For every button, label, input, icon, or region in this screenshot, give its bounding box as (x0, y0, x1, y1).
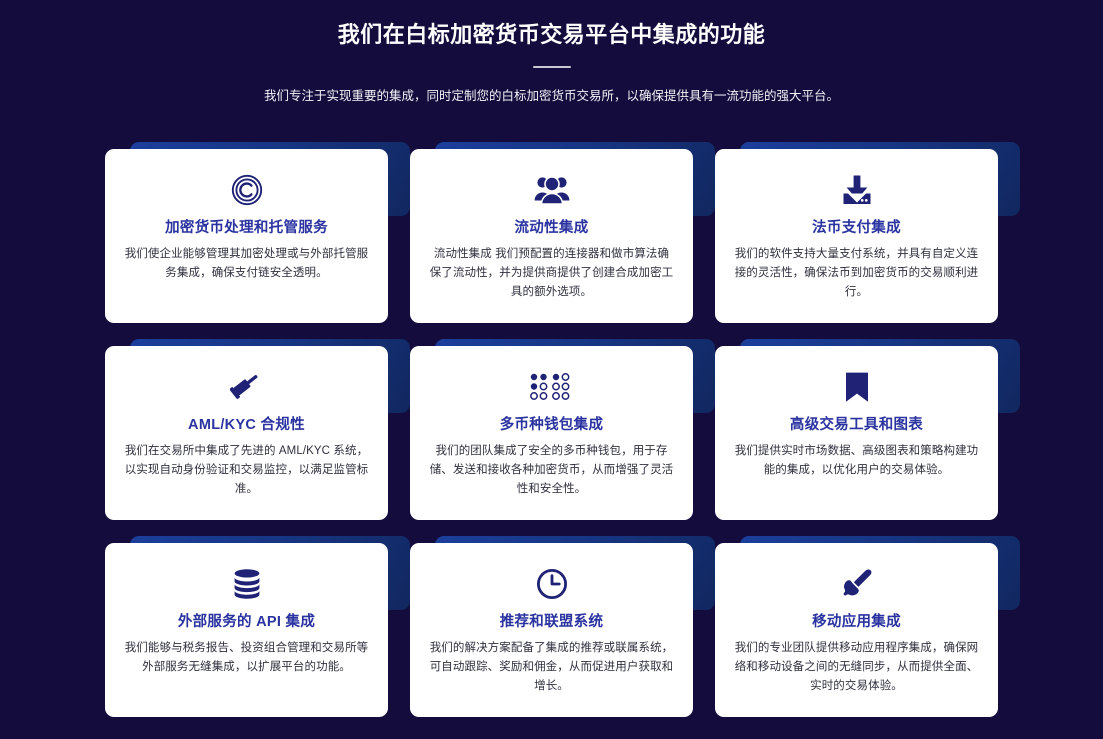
feature-card[interactable]: 移动应用集成我们的专业团队提供移动应用程序集成，确保网络和移动设备之间的无缝同步… (715, 531, 998, 706)
page-subtitle: 我们专注于实现重要的集成，同时定制您的白标加密货币交易所，以确保提供具有一流功能… (102, 86, 1002, 106)
card-body[interactable]: 移动应用集成我们的专业团队提供移动应用程序集成，确保网络和移动设备之间的无缝同步… (715, 543, 998, 717)
card-description: 我们的专业团队提供移动应用程序集成，确保网络和移动设备之间的无缝同步，从而提供全… (734, 639, 979, 696)
feature-card[interactable]: 法币支付集成我们的软件支持大量支付系统，并具有自定义连接的灵活性，确保法币到加密… (715, 137, 998, 312)
card-title: 推荐和联盟系统 (500, 612, 604, 632)
card-description: 流动性集成 我们预配置的连接器和做市算法确保了流动性，并为提供商提供了创建合成加… (429, 245, 674, 302)
paintbrush-icon (840, 566, 874, 602)
card-body[interactable]: 流动性集成流动性集成 我们预配置的连接器和做市算法确保了流动性，并为提供商提供了… (410, 149, 693, 323)
feature-card[interactable]: 推荐和联盟系统我们的解决方案配备了集成的推荐或联属系统，可自动跟踪、奖励和佣金，… (410, 531, 693, 706)
card-body[interactable]: 加密货币处理和托管服务我们使企业能够管理其加密处理或与外部托管服务集成，确保支付… (105, 149, 388, 323)
card-description: 我们的团队集成了安全的多币种钱包，用于存储、发送和接收各种加密货币，从而增强了灵… (429, 442, 674, 499)
card-title: 流动性集成 (515, 218, 589, 238)
card-body[interactable]: 多币种钱包集成我们的团队集成了安全的多币种钱包，用于存储、发送和接收各种加密货币… (410, 346, 693, 520)
card-title: 移动应用集成 (812, 612, 901, 632)
card-description: 我们的解决方案配备了集成的推荐或联属系统，可自动跟踪、奖励和佣金，从而促进用户获… (429, 639, 674, 696)
copyright-icon (231, 172, 263, 208)
clock-icon (536, 566, 568, 602)
feature-card-grid: 加密货币处理和托管服务我们使企业能够管理其加密处理或与外部托管服务集成，确保支付… (105, 137, 998, 706)
dot-grid-icon (530, 369, 574, 405)
card-title: 加密货币处理和托管服务 (165, 218, 328, 238)
card-body[interactable]: 推荐和联盟系统我们的解决方案配备了集成的推荐或联属系统，可自动跟踪、奖励和佣金，… (410, 543, 693, 717)
card-body[interactable]: 外部服务的 API 集成我们能够与税务报告、投资组合管理和交易所等外部服务无缝集… (105, 543, 388, 717)
gavel-icon (230, 369, 264, 405)
title-divider (533, 66, 571, 68)
bookmark-icon (844, 369, 870, 405)
database-icon (231, 566, 263, 602)
feature-card[interactable]: 流动性集成流动性集成 我们预配置的连接器和做市算法确保了流动性，并为提供商提供了… (410, 137, 693, 312)
features-page: 我们在白标加密货币交易平台中集成的功能 我们专注于实现重要的集成，同时定制您的白… (0, 0, 1103, 739)
card-title: 高级交易工具和图表 (790, 415, 923, 435)
card-description: 我们能够与税务报告、投资组合管理和交易所等外部服务无缝集成，以扩展平台的功能。 (124, 639, 369, 677)
card-title: 外部服务的 API 集成 (178, 612, 315, 632)
page-header: 我们在白标加密货币交易平台中集成的功能 我们专注于实现重要的集成，同时定制您的白… (0, 18, 1103, 106)
feature-card[interactable]: 多币种钱包集成我们的团队集成了安全的多币种钱包，用于存储、发送和接收各种加密货币… (410, 334, 693, 509)
card-body[interactable]: 高级交易工具和图表我们提供实时市场数据、高级图表和策略构建功能的集成，以优化用户… (715, 346, 998, 520)
feature-card[interactable]: 外部服务的 API 集成我们能够与税务报告、投资组合管理和交易所等外部服务无缝集… (105, 531, 388, 706)
card-description: 我们在交易所中集成了先进的 AML/KYC 系统，以实现自动身份验证和交易监控，… (124, 442, 369, 499)
page-title: 我们在白标加密货币交易平台中集成的功能 (60, 18, 1043, 52)
feature-card[interactable]: AML/KYC 合规性我们在交易所中集成了先进的 AML/KYC 系统，以实现自… (105, 334, 388, 509)
feature-card[interactable]: 高级交易工具和图表我们提供实时市场数据、高级图表和策略构建功能的集成，以优化用户… (715, 334, 998, 509)
card-description: 我们提供实时市场数据、高级图表和策略构建功能的集成，以优化用户的交易体验。 (734, 442, 979, 480)
card-body[interactable]: AML/KYC 合规性我们在交易所中集成了先进的 AML/KYC 系统，以实现自… (105, 346, 388, 520)
card-body[interactable]: 法币支付集成我们的软件支持大量支付系统，并具有自定义连接的灵活性，确保法币到加密… (715, 149, 998, 323)
card-title: 法币支付集成 (812, 218, 901, 238)
users-group-icon (534, 172, 570, 208)
card-title: AML/KYC 合规性 (188, 415, 305, 435)
card-title: 多币种钱包集成 (500, 415, 604, 435)
card-description: 我们的软件支持大量支付系统，并具有自定义连接的灵活性，确保法币到加密货币的交易顺… (734, 245, 979, 302)
feature-card[interactable]: 加密货币处理和托管服务我们使企业能够管理其加密处理或与外部托管服务集成，确保支付… (105, 137, 388, 312)
download-tray-icon (840, 172, 874, 208)
card-description: 我们使企业能够管理其加密处理或与外部托管服务集成，确保支付链安全透明。 (124, 245, 369, 283)
